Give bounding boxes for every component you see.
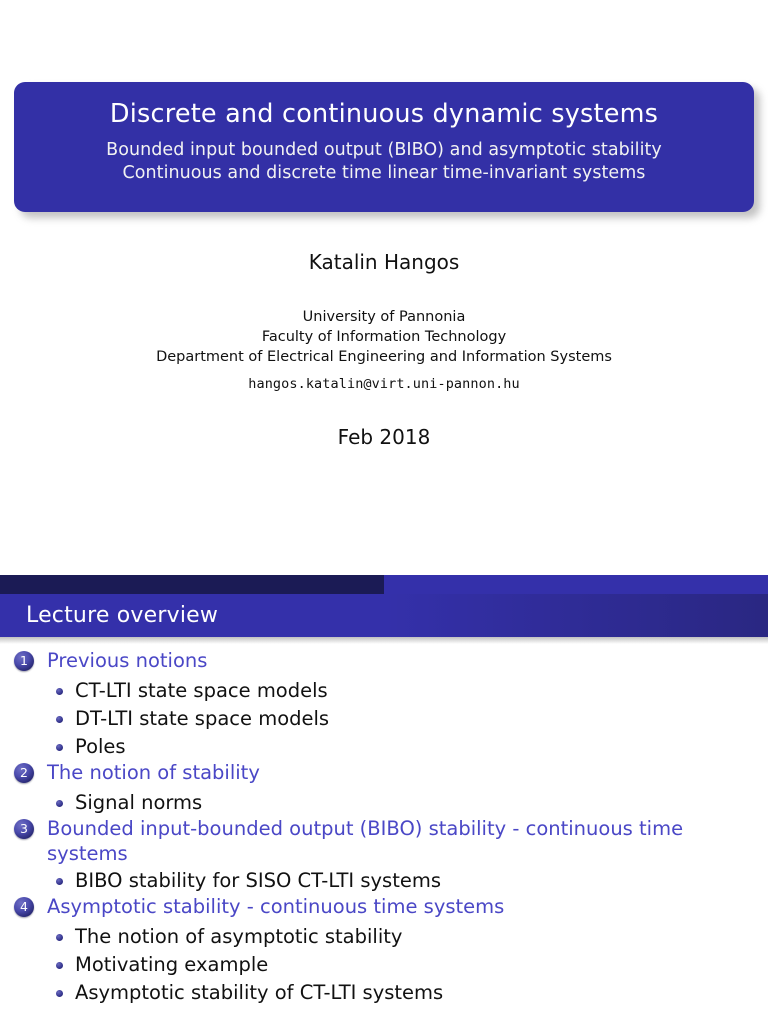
table-of-contents: 1Previous notionsCT-LTI state space mode… — [0, 649, 768, 1007]
toc-section-title: The notion of stability — [47, 761, 260, 786]
toc-subsection-label: Poles — [75, 733, 126, 761]
toc-section-title: Asymptotic stability - continuous time s… — [47, 895, 504, 920]
presentation-subtitle-line1: Bounded input bounded output (BIBO) and … — [106, 139, 662, 162]
toc-section-link[interactable]: 2The notion of stability — [0, 761, 768, 789]
toc-subsection-link[interactable]: CT-LTI state space models — [0, 677, 768, 705]
title-box: Discrete and continuous dynamic systems … — [14, 82, 754, 212]
toc-section-link[interactable]: 1Previous notions — [0, 649, 768, 677]
bullet-icon — [56, 800, 63, 807]
toc-subsection-list: The notion of asymptotic stabilityMotiva… — [0, 923, 768, 1007]
header-strip-left — [0, 575, 384, 594]
title-slide: Discrete and continuous dynamic systems … — [0, 0, 768, 575]
header-top-strip — [0, 575, 768, 594]
toc-section-number-badge: 2 — [14, 763, 34, 783]
toc-subsection-list: CT-LTI state space modelsDT-LTI state sp… — [0, 677, 768, 761]
bullet-icon — [56, 990, 63, 997]
bullet-icon — [56, 688, 63, 695]
presentation-subtitle: Bounded input bounded output (BIBO) and … — [106, 139, 662, 185]
toc-subsection-link[interactable]: BIBO stability for SISO CT-LTI systems — [0, 867, 768, 895]
header-shadow — [0, 637, 768, 644]
bullet-icon — [56, 878, 63, 885]
toc-section-link[interactable]: 3Bounded input-bounded output (BIBO) sta… — [0, 817, 768, 867]
toc-subsection-label: Motivating example — [75, 951, 268, 979]
bullet-icon — [56, 744, 63, 751]
toc-section-number-badge: 4 — [14, 897, 34, 917]
toc-section: 3Bounded input-bounded output (BIBO) sta… — [0, 817, 768, 895]
toc-section: 2The notion of stabilitySignal norms — [0, 761, 768, 817]
header-strip-right — [384, 575, 768, 594]
author-name: Katalin Hangos — [0, 250, 768, 274]
bullet-icon — [56, 716, 63, 723]
presentation-subtitle-line2: Continuous and discrete time linear time… — [106, 162, 662, 185]
toc-subsection-link[interactable]: Asymptotic stability of CT-LTI systems — [0, 979, 768, 1007]
affiliation-faculty: Faculty of Information Technology — [0, 327, 768, 347]
toc-subsection-label: DT-LTI state space models — [75, 705, 329, 733]
author-email[interactable]: hangos.katalin@virt.uni-pannon.hu — [0, 376, 768, 392]
toc-subsection-label: CT-LTI state space models — [75, 677, 328, 705]
header-bar: Lecture overview — [0, 594, 768, 637]
toc-subsection-link[interactable]: DT-LTI state space models — [0, 705, 768, 733]
bullet-icon — [56, 934, 63, 941]
toc-section-title: Bounded input-bounded output (BIBO) stab… — [47, 817, 707, 867]
toc-section-number-badge: 3 — [14, 819, 34, 839]
toc-subsection-label: BIBO stability for SISO CT-LTI systems — [75, 867, 441, 895]
bullet-icon — [56, 962, 63, 969]
toc-section-number-badge: 1 — [14, 651, 34, 671]
toc-section: 4Asymptotic stability - continuous time … — [0, 895, 768, 1007]
affiliation-department: Department of Electrical Engineering and… — [0, 347, 768, 367]
toc-subsection-link[interactable]: Poles — [0, 733, 768, 761]
affiliation: University of Pannonia Faculty of Inform… — [0, 307, 768, 367]
presentation-title: Discrete and continuous dynamic systems — [110, 99, 658, 131]
affiliation-university: University of Pannonia — [0, 307, 768, 327]
overview-slide: Lecture overview 1Previous notionsCT-LTI… — [0, 575, 768, 1024]
toc-section-link[interactable]: 4Asymptotic stability - continuous time … — [0, 895, 768, 923]
toc-section: 1Previous notionsCT-LTI state space mode… — [0, 649, 768, 761]
presentation-date: Feb 2018 — [0, 425, 768, 449]
toc-subsection-label: The notion of asymptotic stability — [75, 923, 402, 951]
toc-section-title: Previous notions — [47, 649, 207, 674]
toc-subsection-link[interactable]: Signal norms — [0, 789, 768, 817]
toc-subsection-label: Signal norms — [75, 789, 202, 817]
toc-subsection-list: BIBO stability for SISO CT-LTI systems — [0, 867, 768, 895]
toc-subsection-link[interactable]: The notion of asymptotic stability — [0, 923, 768, 951]
toc-subsection-label: Asymptotic stability of CT-LTI systems — [75, 979, 443, 1007]
title-box-body: Discrete and continuous dynamic systems … — [14, 82, 754, 212]
slide-title: Lecture overview — [26, 603, 218, 628]
toc-subsection-link[interactable]: Motivating example — [0, 951, 768, 979]
toc-subsection-list: Signal norms — [0, 789, 768, 817]
